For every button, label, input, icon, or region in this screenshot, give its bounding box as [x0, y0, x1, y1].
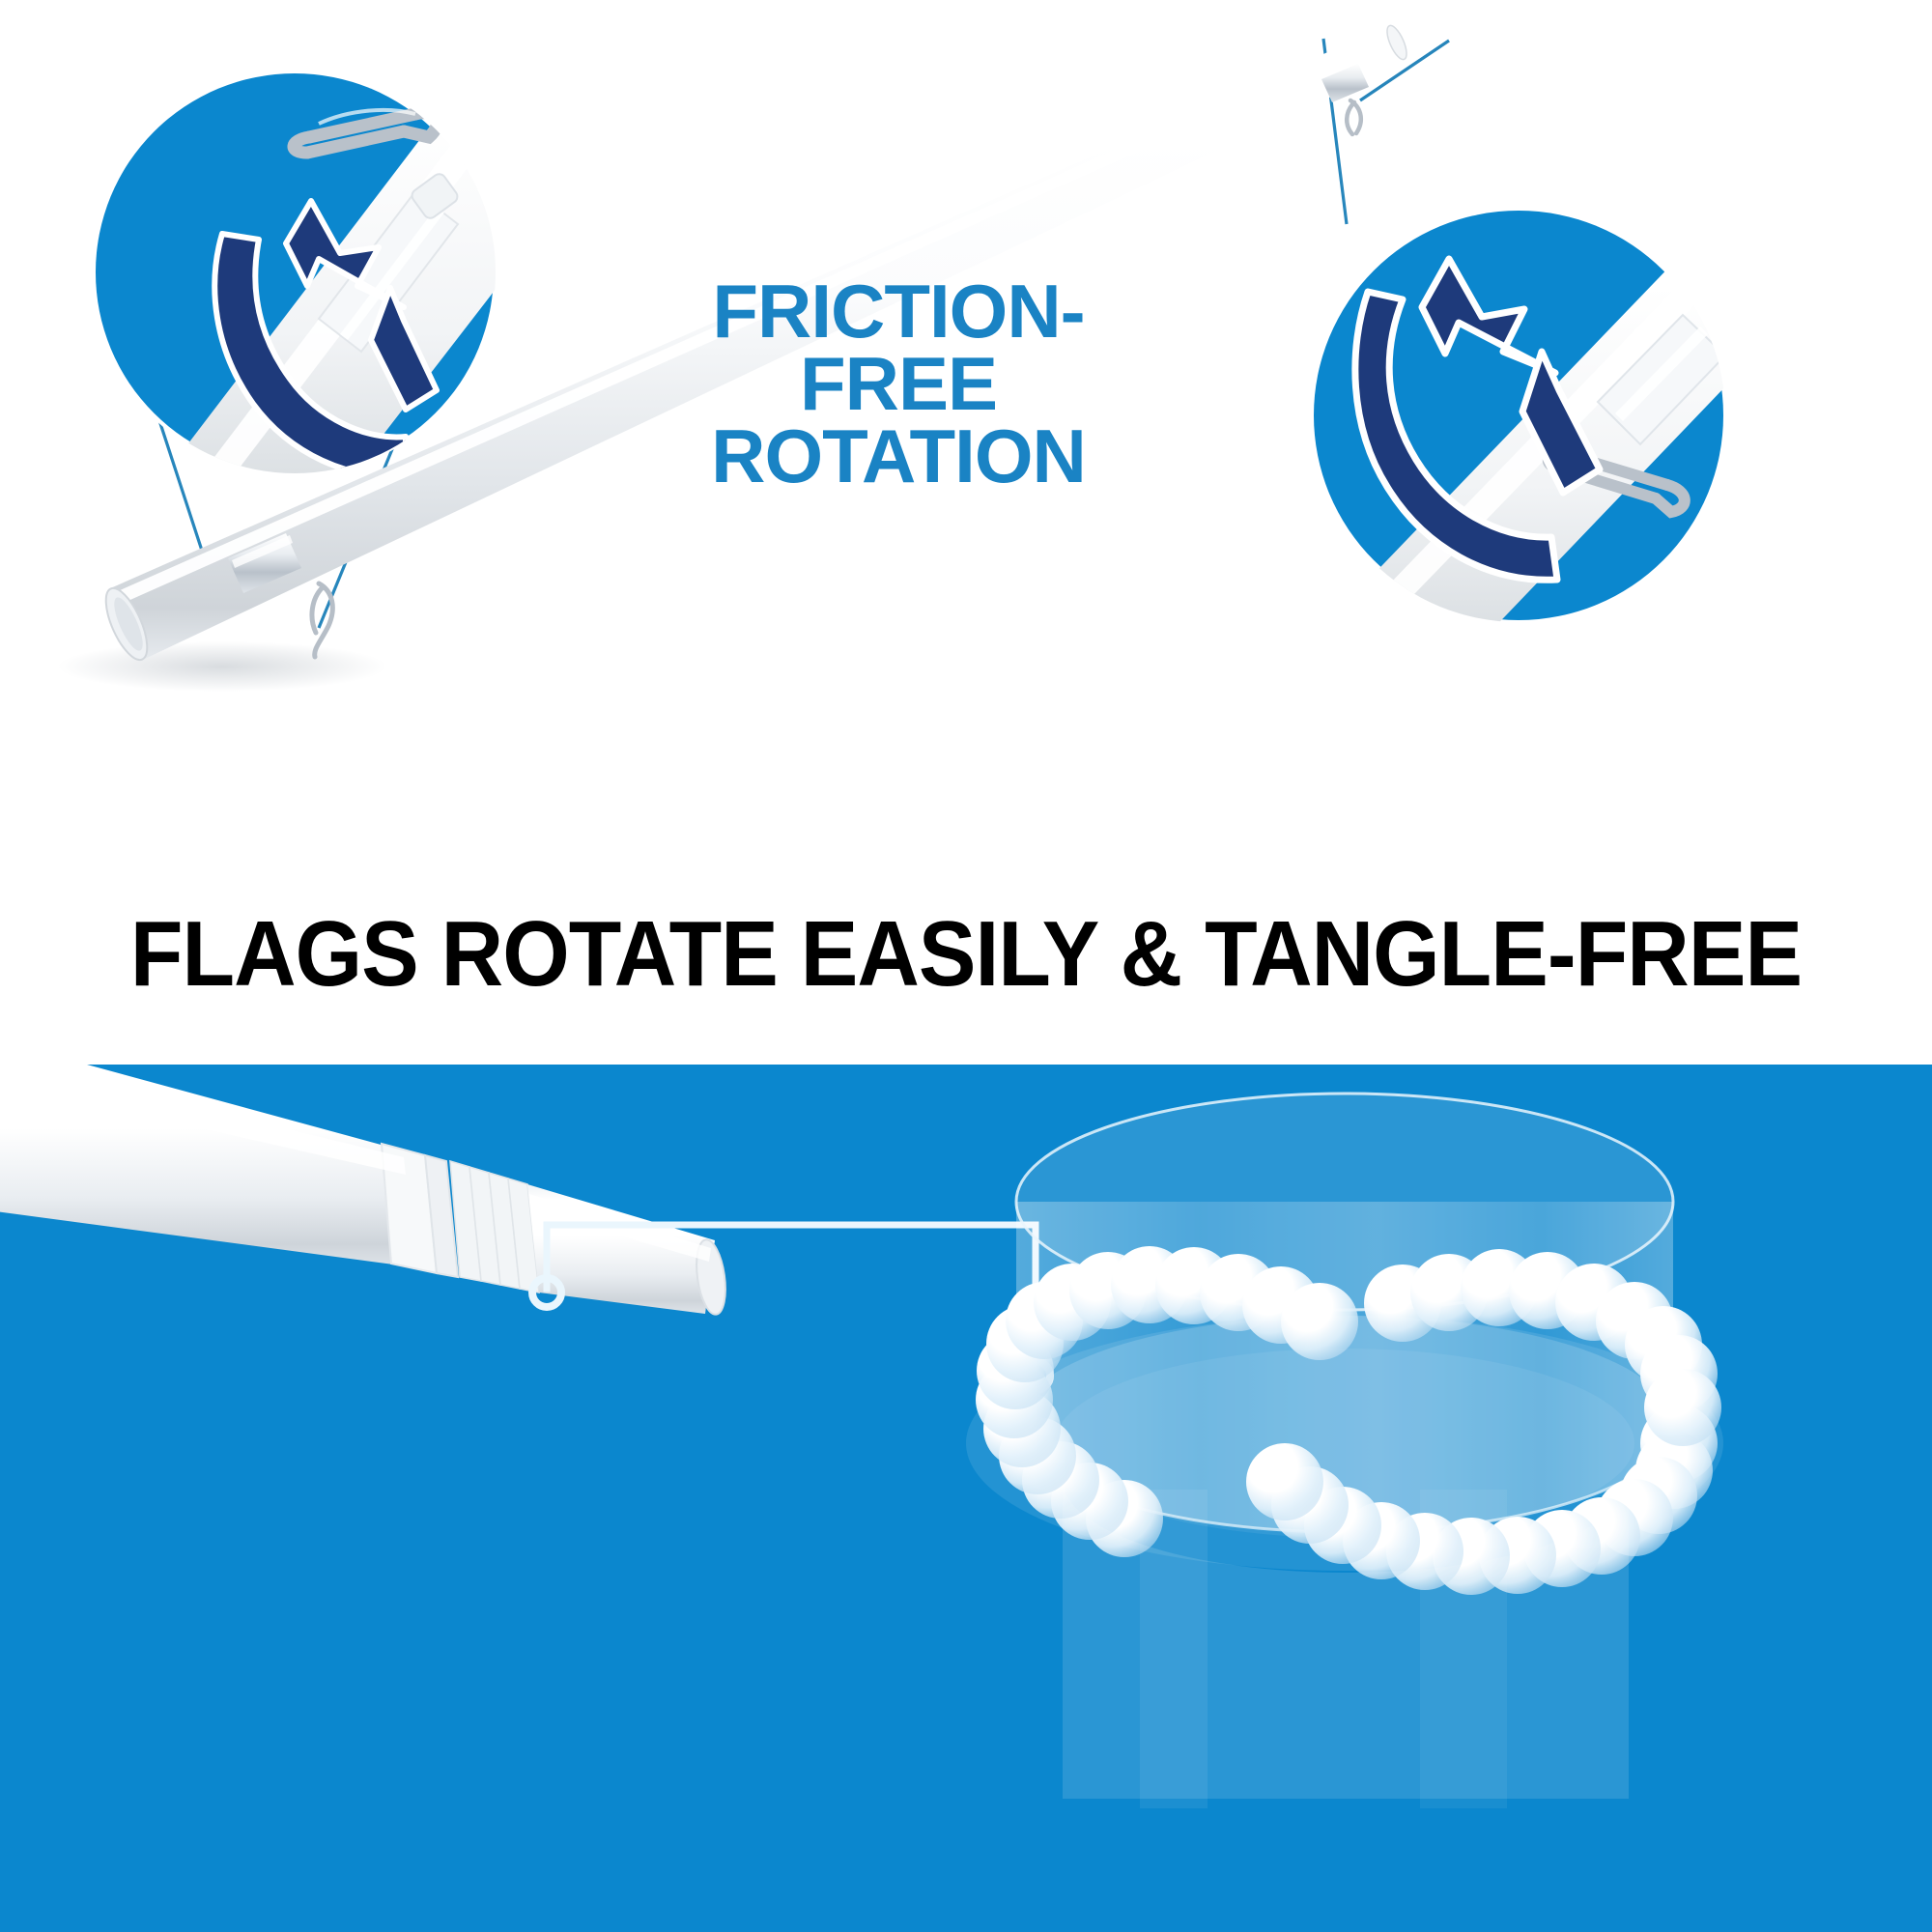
bottom-illustration: [0, 1065, 1932, 1932]
friction-headline-line1: FRICTION-FREE: [712, 269, 1084, 426]
friction-headline-line2: ROTATION: [618, 420, 1179, 493]
infographic-root: FRICTION-FREE ROTATION FLAGS ROTATE EASI…: [0, 0, 1932, 1932]
main-headline: FLAGS ROTATE EASILY & TANGLE-FREE: [68, 908, 1864, 1001]
flagpole-bottom: [0, 1065, 729, 1317]
threaded-section: [450, 1161, 539, 1293]
friction-free-headline: FRICTION-FREE ROTATION: [618, 275, 1179, 493]
snap-clip-upper: [1347, 100, 1361, 134]
ball-bearing-ring-diagram: [966, 1094, 1723, 1808]
bottom-panel: BALL BEARINGS IN THE MOUNTING RINGS PROV…: [0, 1065, 1932, 1932]
inset-rotation-right: [1285, 155, 1864, 755]
